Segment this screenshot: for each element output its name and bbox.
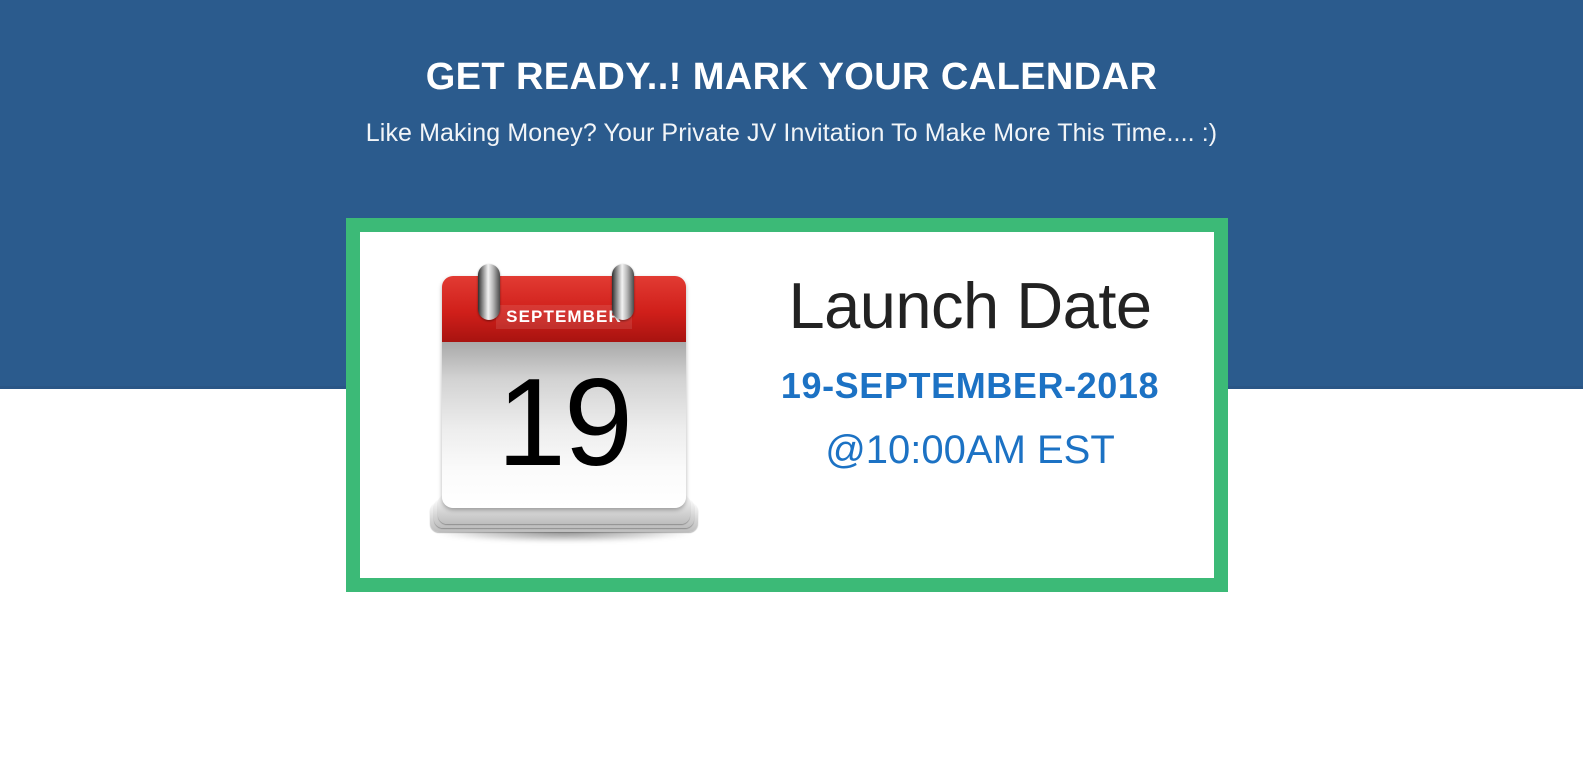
calendar-day-page: 19 [442, 342, 686, 508]
page-subtitle: Like Making Money? Your Private JV Invit… [0, 118, 1583, 148]
launch-date-value: 19-SEPTEMBER-2018 [740, 366, 1200, 406]
calendar-day-number: 19 [497, 361, 631, 485]
launch-date-card: SEPTEMBER 19 Launch Date 19-SEPTEMBER-20… [346, 218, 1228, 592]
launch-card-inner: SEPTEMBER 19 Launch Date 19-SEPTEMBER-20… [360, 232, 1214, 578]
launch-info-block: Launch Date 19-SEPTEMBER-2018 @10:00AM E… [740, 272, 1200, 472]
calendar-ring [612, 264, 634, 320]
launch-title: Launch Date [740, 272, 1200, 340]
calendar-month-label: SEPTEMBER [506, 308, 622, 325]
calendar-icon: SEPTEMBER 19 [422, 256, 706, 556]
launch-time-value: @10:00AM EST [740, 428, 1200, 472]
calendar-ring [478, 264, 500, 320]
page-title: GET READY..! MARK YOUR CALENDAR [0, 56, 1583, 100]
